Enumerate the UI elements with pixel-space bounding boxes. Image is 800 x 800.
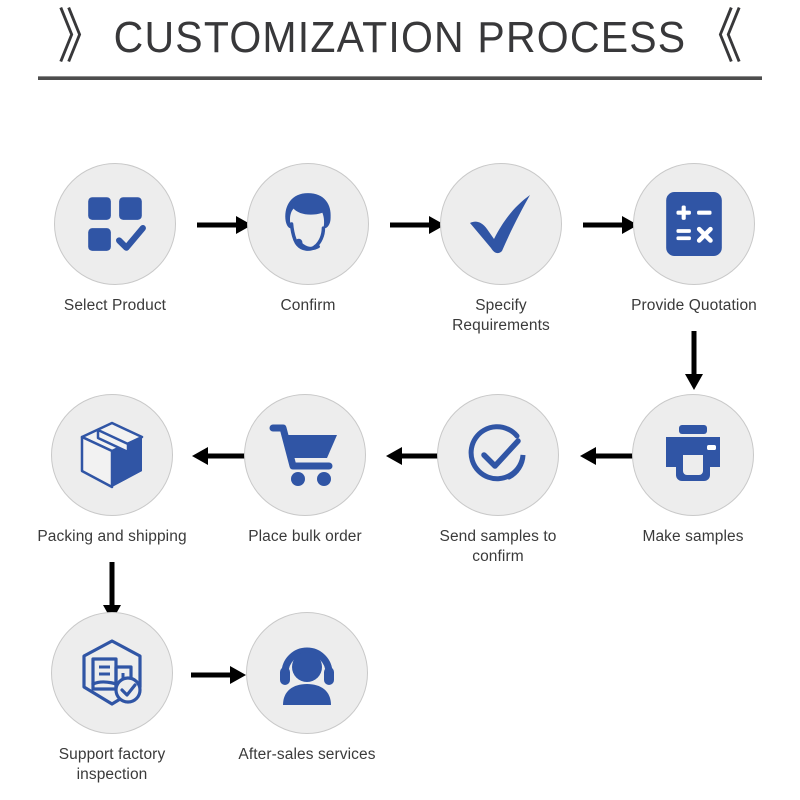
calculator-icon: [664, 190, 724, 258]
check-circle-outline-icon: [462, 419, 534, 491]
flow-step-select-product[interactable]: Select Product: [40, 163, 190, 316]
step-icon-badge: [440, 163, 562, 285]
right-double-chevron-icon: 《: [692, 8, 742, 67]
flow-step-confirm[interactable]: Confirm: [233, 163, 383, 316]
grid-squares-check-icon: [82, 191, 148, 257]
arrow-step4-to-step5: [681, 330, 707, 392]
flow-step-make-samples[interactable]: Make samples: [618, 394, 768, 547]
step-label: After-sales services: [232, 745, 382, 765]
flow-step-support-factory-inspection[interactable]: Support factory inspection: [37, 612, 187, 786]
step-icon-badge: [632, 394, 754, 516]
title-divider: [38, 76, 762, 80]
flow-step-send-samples-to-confirm[interactable]: Send samples to confirm: [423, 394, 573, 568]
step-icon-badge: [633, 163, 755, 285]
flow-step-packing-and-shipping[interactable]: Packing and shipping: [37, 394, 187, 547]
step-label: Place bulk order: [230, 527, 380, 547]
flow-step-after-sales-services[interactable]: After-sales services: [232, 612, 382, 765]
step-icon-badge: [244, 394, 366, 516]
support-agent-headset-icon: [271, 187, 345, 261]
step-label: Provide Quotation: [619, 296, 769, 316]
step-label: Packing and shipping: [37, 527, 187, 547]
step-label: Specify Requirements: [426, 296, 576, 337]
step-label: Select Product: [40, 296, 190, 316]
flow-step-specify-requirements[interactable]: Specify Requirements: [426, 163, 576, 337]
step-label: Support factory inspection: [37, 745, 187, 786]
flow-step-provide-quotation[interactable]: Provide Quotation: [619, 163, 769, 316]
left-double-chevron-icon: 》: [58, 8, 108, 67]
package-box-icon: [76, 419, 148, 491]
page-header: 》 CUSTOMIZATION PROCESS 《: [0, 0, 800, 92]
step-label: Confirm: [233, 296, 383, 316]
step-icon-badge: [246, 612, 368, 734]
step-icon-badge: [54, 163, 176, 285]
step-label: Send samples to confirm: [423, 527, 573, 568]
step-icon-badge: [247, 163, 369, 285]
page-title: CUSTOMIZATION PROCESS: [114, 12, 687, 62]
title-row: 》 CUSTOMIZATION PROCESS 《: [0, 8, 800, 66]
step-icon-badge: [437, 394, 559, 516]
shopping-cart-icon: [269, 422, 341, 488]
step-icon-badge: [51, 612, 173, 734]
step-icon-badge: [51, 394, 173, 516]
printer-icon: [658, 423, 728, 487]
shield-inspection-check-icon: [76, 637, 148, 709]
headset-person-icon: [271, 639, 343, 707]
step-label: Make samples: [618, 527, 768, 547]
checkmark-icon: [464, 189, 538, 259]
flow-step-place-bulk-order[interactable]: Place bulk order: [230, 394, 380, 547]
